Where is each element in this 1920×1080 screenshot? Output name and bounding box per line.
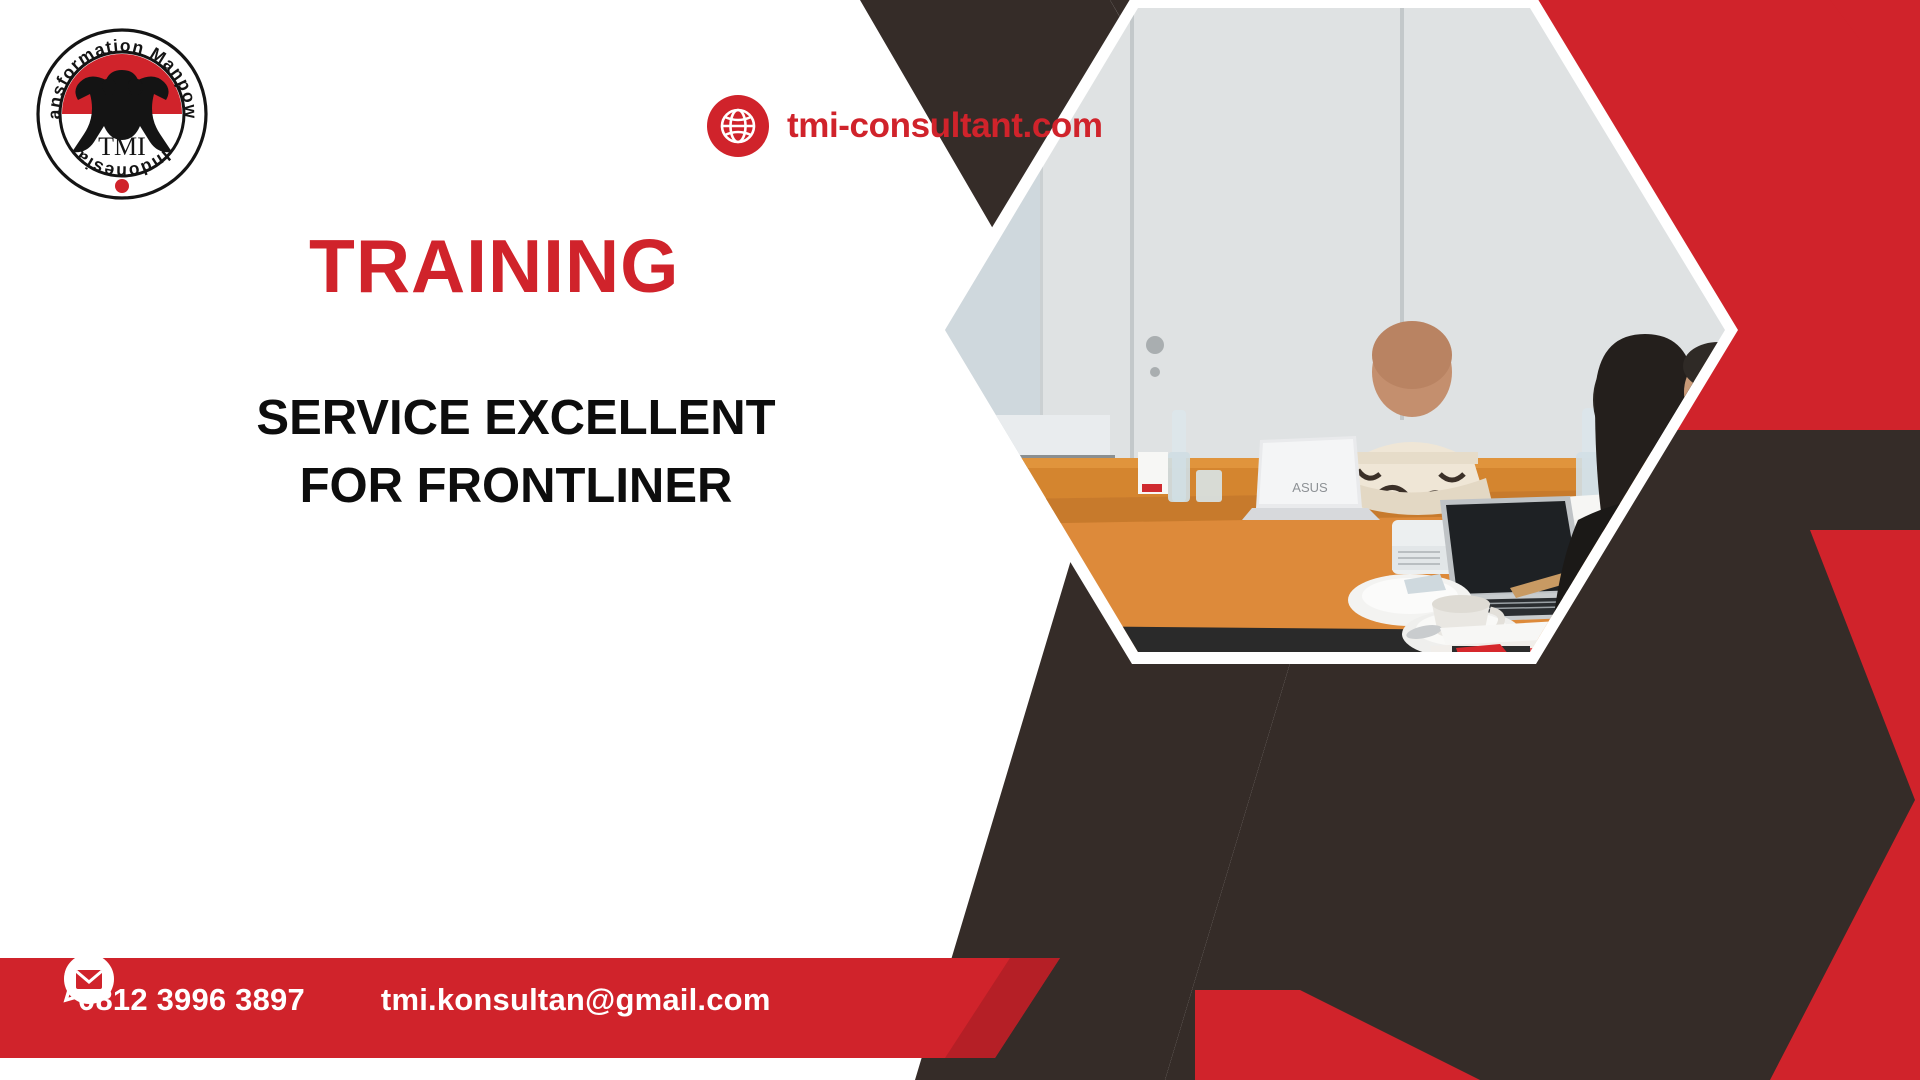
contact-items: 0812 3996 3897 tmi.konsultan@gmail.com: [60, 950, 771, 1050]
title-line-2: FOR FRONTLINER: [196, 453, 836, 521]
globe-icon: [707, 95, 769, 157]
title-line-1: SERVICE EXCELLENT: [196, 385, 836, 453]
poster-canvas: ASUS: [0, 0, 1920, 1080]
contact-email[interactable]: tmi.konsultan@gmail.com: [363, 982, 771, 1018]
logo-dot: [115, 179, 129, 193]
tmi-logo: TMI Transformation Manpower Indonesia: [30, 22, 215, 207]
geometry-svg: ASUS: [740, 0, 1920, 1080]
decorative-geometry: ASUS: [740, 0, 1920, 1080]
logo-monogram: TMI: [98, 132, 146, 161]
eyebrow-heading: TRAINING: [309, 229, 679, 304]
email-label: tmi.konsultan@gmail.com: [381, 982, 771, 1018]
website-row[interactable]: tmi-consultant.com: [707, 95, 1103, 157]
svg-text:ASUS: ASUS: [1292, 480, 1328, 495]
website-label: tmi-consultant.com: [787, 106, 1103, 146]
contact-bar: 0812 3996 3897 tmi.konsultan@gmail.com: [0, 950, 1180, 1080]
page-title: SERVICE EXCELLENT FOR FRONTLINER: [196, 385, 836, 520]
